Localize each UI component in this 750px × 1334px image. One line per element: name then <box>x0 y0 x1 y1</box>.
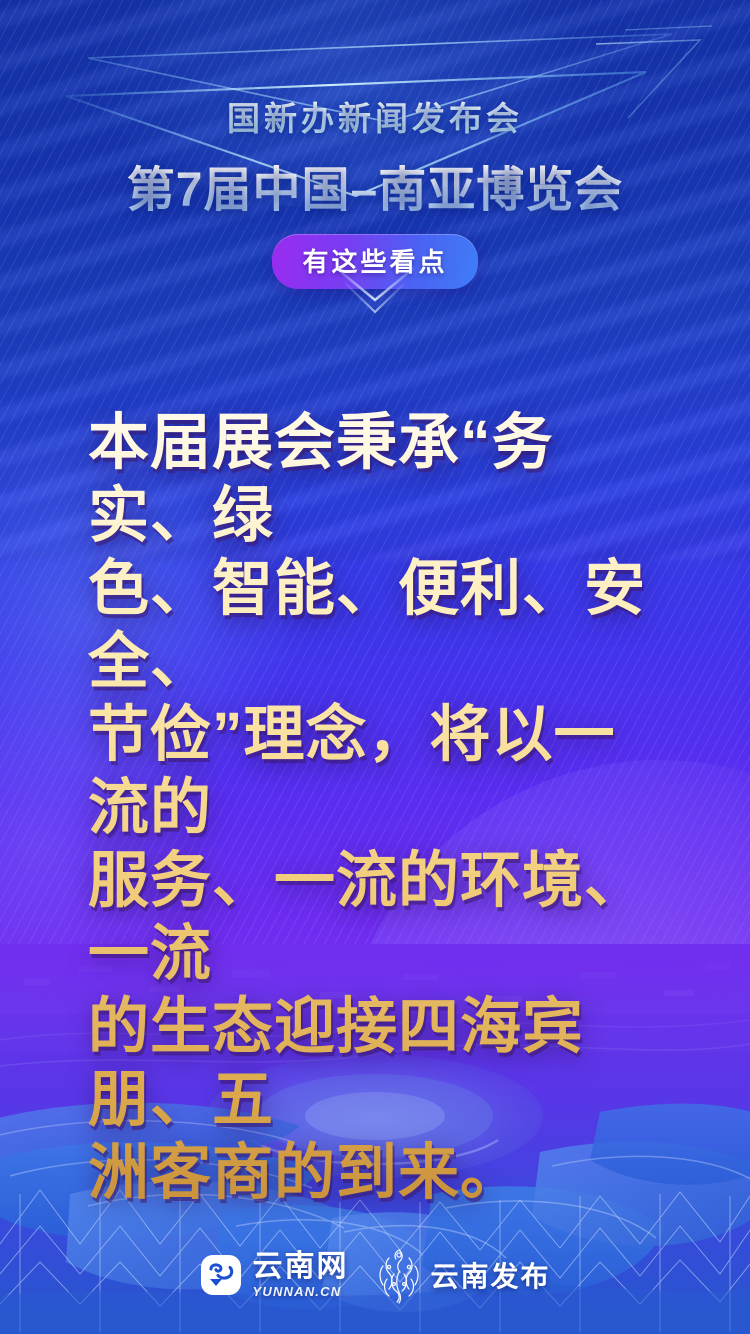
paragraph-line: 洲客商的到来。 <box>88 1136 673 1209</box>
logo-yunnan-net-cn: 云南网 <box>252 1252 348 1282</box>
peacock-filigree-icon <box>374 1246 424 1304</box>
paragraph-line: 节俭”理念，将以一流的 <box>88 698 673 844</box>
paragraph-line: 色、智能、便利、安全、 <box>88 552 673 698</box>
logo-yunnan-net[interactable]: 云南网 YUNNAN.CN <box>199 1252 348 1298</box>
logo-yunnan-fabu-cn: 云南发布 <box>430 1255 550 1295</box>
logo-yunnan-net-en: YUNNAN.CN <box>252 1285 348 1298</box>
yunnan-net-cloud-mark-icon <box>199 1253 243 1297</box>
logo-yunnan-net-text: 云南网 YUNNAN.CN <box>252 1252 348 1298</box>
paragraph-line: 服务、一流的环境、一流 <box>88 844 673 990</box>
footer-logos: 云南网 YUNNAN.CN <box>0 1246 750 1304</box>
double-chevron-down-icon <box>320 262 430 318</box>
kicker-text: 国新办新闻发布会 <box>0 92 750 140</box>
paragraph-line: 本届展会秉承“务实、绿 <box>88 406 673 552</box>
page-title: 第7届中国–南亚博览会 <box>0 150 750 220</box>
logo-yunnan-fabu[interactable]: 云南发布 <box>374 1246 550 1304</box>
main-paragraph: 本届展会秉承“务实、绿 色、智能、便利、安全、 节俭”理念，将以一流的 服务、一… <box>88 406 673 1209</box>
paragraph-line: 的生态迎接四海宾朋、五 <box>88 990 673 1136</box>
poster-header: 国新办新闻发布会 第7届中国–南亚博览会 有这些看点 <box>0 0 750 289</box>
poster-root: 国新办新闻发布会 第7届中国–南亚博览会 有这些看点 本届展会秉承“务实、绿 色… <box>0 0 750 1334</box>
